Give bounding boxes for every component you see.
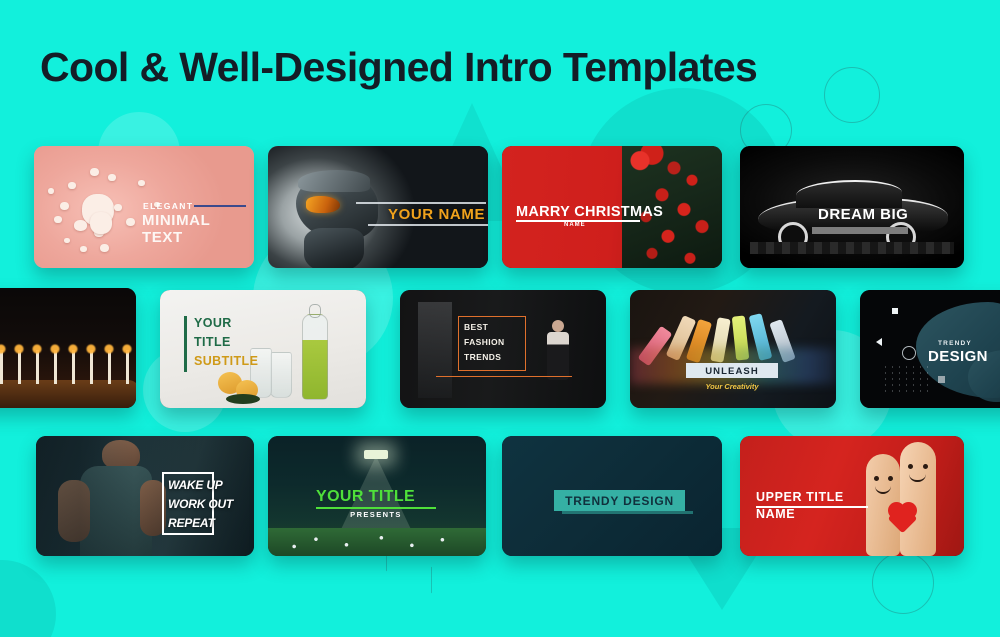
card-subtitle: NAME <box>756 507 795 521</box>
card-title: DREAM BIG <box>818 206 908 223</box>
card-title-line2: TITLE <box>194 335 231 349</box>
accent-rule <box>316 507 436 509</box>
card-title: TRENDY DESIGN <box>554 494 685 508</box>
card-title: UNLEASH <box>686 366 778 377</box>
card-title: DESIGN <box>928 348 988 365</box>
dot-grid-pattern <box>882 364 934 396</box>
card-title-line2: WORK OUT <box>168 495 233 514</box>
template-card-marry-christmas[interactable]: MARRY CHRISTMAS NAME <box>502 146 722 268</box>
accent-rule-top <box>356 202 486 204</box>
page-title: Cool & Well-Designed Intro Templates <box>40 44 757 91</box>
card-title-line3: TRENDS <box>464 350 505 365</box>
card-eyebrow: TRENDY <box>938 340 972 347</box>
card-title-line2: FASHION <box>464 335 505 350</box>
template-card-unleash-your-creativity[interactable]: UNLEASH Your Creativity <box>630 290 836 408</box>
template-card-trendy-design-box[interactable]: TRENDY DESIGN <box>502 436 722 556</box>
template-card-your-name-soldier[interactable]: YOUR NAME <box>268 146 488 268</box>
template-card-wake-up-work-out-repeat[interactable]: WAKE UP WORK OUT REPEAT <box>36 436 254 556</box>
title-box-shadow <box>562 511 693 514</box>
template-card-your-title-presents[interactable]: YOUR TITLE PRESENTS <box>268 436 486 556</box>
template-card-dream-big[interactable]: DREAM BIG <box>740 146 964 268</box>
template-card-upper-title-name[interactable]: UPPER TITLE NAME <box>740 436 964 556</box>
card-eyebrow: ELEGANT <box>143 201 193 211</box>
accent-bar <box>184 316 187 372</box>
card-subtitle: Your Creativity <box>680 382 784 391</box>
card-title: MARRY CHRISTMAS <box>516 204 663 220</box>
card-title: YOUR NAME <box>388 206 485 223</box>
card-subtitle: NAME <box>564 222 586 228</box>
template-card-your-title-subtitle[interactable]: YOUR TITLE SUBTITLE <box>160 290 366 408</box>
card-subtitle: SUBTITLE <box>194 354 258 368</box>
card-title-line3: REPEAT <box>168 514 233 533</box>
template-card-elegant-minimal-text[interactable]: ELEGANT MINIMAL TEXT <box>34 146 254 268</box>
name-placeholder-bar <box>812 227 908 234</box>
card-subtitle: PRESENTS <box>312 510 440 519</box>
card-title-line1: WAKE UP <box>168 476 233 495</box>
card-title: UPPER TITLE <box>756 490 844 504</box>
accent-rule <box>194 205 246 207</box>
deco-ring-bottom-right <box>872 552 934 614</box>
heart-icon <box>888 498 918 526</box>
template-card-trendy-design-blob[interactable]: TRENDY DESIGN <box>860 290 1000 408</box>
template-card-happy-birthday[interactable]: Y BIRTHDAY NAME <box>0 288 136 408</box>
deco-ring-top-right <box>824 67 880 123</box>
card-title: YOUR TITLE <box>316 488 415 506</box>
accent-rule-bottom <box>368 224 488 226</box>
template-gallery-page: Cool & Well-Designed Intro Templates ELE… <box>0 0 1000 637</box>
soldier-helmet-illustration <box>290 166 386 268</box>
template-card-best-fashion-trends[interactable]: BEST FASHION TRENDS <box>400 290 606 408</box>
card-title: MINIMAL TEXT <box>142 212 254 246</box>
card-title-line1: BEST <box>464 320 505 335</box>
card-title-line1: YOUR <box>194 316 232 330</box>
card-title: BEST FASHION TRENDS <box>464 320 505 365</box>
card-title: WAKE UP WORK OUT REPEAT <box>168 476 233 533</box>
deco-circle-bottom-left <box>0 560 56 637</box>
accent-rule <box>436 376 572 377</box>
